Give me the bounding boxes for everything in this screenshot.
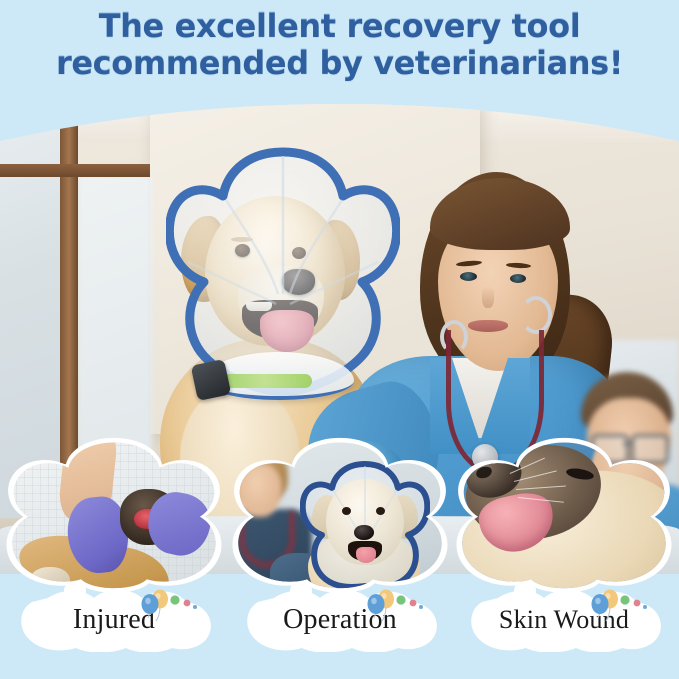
headline-line-1: The excellent recovery tool (28, 8, 651, 45)
label-badge-skin-wound: Skin Wound (464, 590, 664, 652)
dog-nose (282, 269, 315, 295)
thumbnail-operation (228, 432, 452, 600)
dog-eye-left (235, 244, 250, 257)
thumbnail-injured (2, 432, 226, 600)
labrador-eye-right (376, 507, 385, 515)
labrador-tongue (356, 547, 376, 563)
label-badge-injured: Injured (14, 590, 214, 652)
door-frame-vertical (60, 104, 78, 464)
thumbnail-skin-wound (452, 432, 676, 600)
labrador-nose (354, 525, 374, 540)
headline-line-2: recommended by veterinarians! (28, 45, 651, 82)
dog-eye-right (292, 247, 306, 259)
door-frame-horizontal (0, 164, 150, 177)
stethoscope-earpiece-right (520, 296, 552, 334)
vet-hair-fringe (430, 178, 570, 250)
vet-eye-left (460, 272, 477, 281)
balloon-decoration (138, 588, 208, 626)
feature-cards: Injured (0, 432, 679, 679)
vet-nose (482, 286, 494, 308)
feature-card-skin-wound[interactable]: Skin Wound (452, 432, 676, 679)
dog-brow-left (231, 237, 253, 242)
headline: The excellent recovery tool recommended … (0, 8, 679, 82)
labrador-eye-left (342, 507, 351, 515)
balloon-decoration (588, 588, 658, 626)
collar-strap (216, 374, 312, 388)
label-badge-operation: Operation (240, 590, 440, 652)
infographic-canvas: The excellent recovery tool recommended … (0, 0, 679, 679)
feature-card-operation[interactable]: Operation (228, 432, 452, 679)
dog-teeth (246, 302, 272, 311)
vet-eye-right (510, 274, 526, 283)
collar-clip (191, 359, 232, 401)
feature-card-injured[interactable]: Injured (2, 432, 226, 679)
balloon-decoration (364, 588, 434, 626)
